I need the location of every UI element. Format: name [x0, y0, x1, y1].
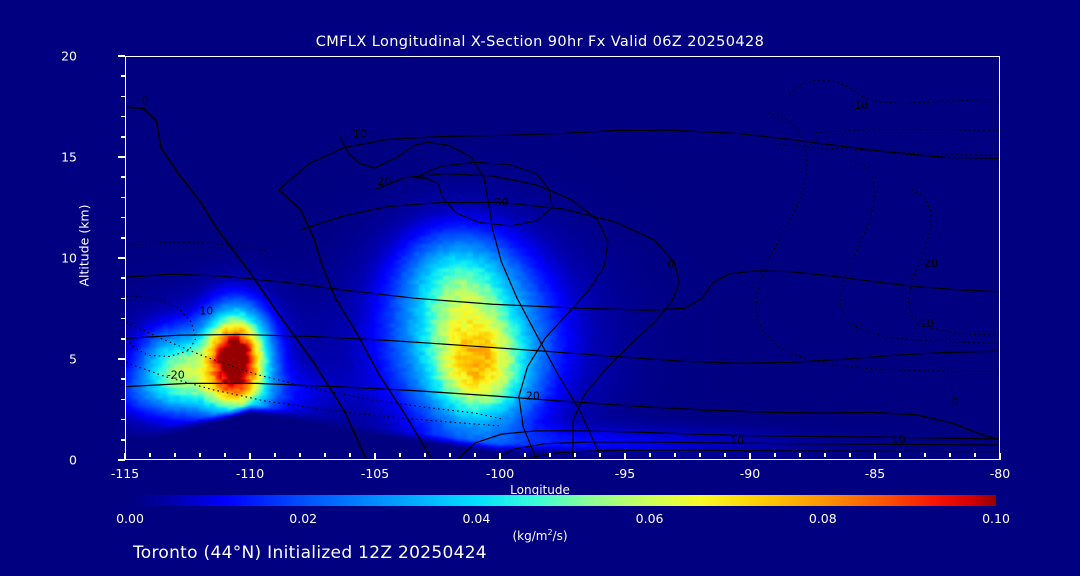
- y-tick-mark: [118, 358, 125, 360]
- colorbar-unit-label: (kg/m2/s): [0, 528, 1080, 543]
- contour-label: 0: [142, 94, 149, 107]
- x-minor-tick: [974, 453, 976, 457]
- colorbar-gradient: [130, 495, 996, 506]
- colorbar-unit-prefix: (kg/m: [512, 529, 547, 543]
- colorbar-tick-label: 0.10: [982, 511, 1010, 526]
- x-minor-tick: [799, 453, 801, 457]
- x-tick-mark: [374, 453, 376, 460]
- contour-label: -10: [850, 99, 868, 112]
- contour-label: 10: [892, 433, 906, 446]
- contour-line-negative: [756, 113, 999, 371]
- y-minor-tick: [121, 217, 125, 219]
- x-tick-mark: [499, 453, 501, 460]
- x-minor-tick: [549, 453, 551, 457]
- x-tick-mark: [249, 453, 251, 460]
- x-minor-tick: [324, 453, 326, 457]
- x-minor-tick: [349, 453, 351, 457]
- y-minor-tick: [121, 298, 125, 300]
- colorbar: [130, 495, 996, 506]
- x-minor-tick: [199, 453, 201, 457]
- x-tick-mark: [874, 453, 876, 460]
- x-minor-tick: [424, 453, 426, 457]
- x-tick-label: -115: [111, 466, 139, 481]
- contour-label: -10: [916, 317, 934, 330]
- x-minor-tick: [599, 453, 601, 457]
- x-tick-mark: [624, 453, 626, 460]
- y-tick-label: 0: [69, 453, 77, 468]
- x-tick-label: -110: [236, 466, 264, 481]
- x-tick-label: -100: [486, 466, 514, 481]
- colorbar-tick-label: 0.00: [116, 511, 144, 526]
- x-tick-mark: [124, 453, 126, 460]
- x-minor-tick: [824, 453, 826, 457]
- contour-label: 30: [494, 196, 508, 209]
- y-minor-tick: [121, 338, 125, 340]
- x-minor-tick: [274, 453, 276, 457]
- x-minor-tick: [699, 453, 701, 457]
- contour-line-positive: [523, 450, 999, 459]
- x-tick-label: -85: [865, 466, 885, 481]
- y-minor-tick: [121, 439, 125, 441]
- contour-line-negative: [789, 80, 999, 103]
- contour-label: -20: [920, 257, 938, 270]
- y-tick-label: 20: [61, 49, 77, 64]
- contour-line-negative: [840, 159, 999, 343]
- contour-label: 0: [952, 396, 959, 409]
- x-minor-tick: [449, 453, 451, 457]
- chart-title: CMFLX Longitudinal X-Section 90hr Fx Val…: [0, 34, 1080, 50]
- contour-label: -20: [167, 369, 185, 382]
- x-tick-label: -105: [361, 466, 389, 481]
- x-minor-tick: [474, 453, 476, 457]
- colorbar-tick-label: 0.08: [809, 511, 837, 526]
- colorbar-tick-label: 0.02: [289, 511, 317, 526]
- y-minor-tick: [121, 176, 125, 178]
- y-minor-tick: [121, 419, 125, 421]
- y-tick-mark: [118, 55, 125, 57]
- x-minor-tick: [574, 453, 576, 457]
- x-tick-label: -90: [740, 466, 760, 481]
- colorbar-tick-label: 0.04: [462, 511, 490, 526]
- x-minor-tick: [674, 453, 676, 457]
- contour-line-positive: [126, 271, 999, 310]
- x-tick-label: -80: [990, 466, 1010, 481]
- y-minor-tick: [121, 75, 125, 77]
- y-minor-tick: [121, 237, 125, 239]
- x-minor-tick: [399, 453, 401, 457]
- x-minor-tick: [924, 453, 926, 457]
- contour-label: 20: [377, 175, 391, 188]
- y-minor-tick: [121, 277, 125, 279]
- colorbar-unit-suffix: /s): [553, 529, 568, 543]
- x-minor-tick: [774, 453, 776, 457]
- x-minor-tick: [949, 453, 951, 457]
- y-axis-label: Altitude (km): [77, 156, 92, 336]
- contour-overlay: 01010-202030200-10-20-1001010: [126, 57, 999, 459]
- x-minor-tick: [224, 453, 226, 457]
- contour-label: 10: [199, 305, 213, 318]
- contour-line-positive: [126, 334, 999, 363]
- contour-line-negative: [126, 243, 266, 251]
- y-minor-tick: [121, 116, 125, 118]
- y-minor-tick: [121, 318, 125, 320]
- contour-line-positive: [301, 202, 680, 459]
- x-tick-mark: [999, 453, 1001, 460]
- contour-label: 20: [526, 390, 540, 403]
- y-tick-label: 5: [69, 352, 77, 367]
- y-minor-tick: [121, 399, 125, 401]
- x-minor-tick: [649, 453, 651, 457]
- contour-label: 10: [730, 434, 744, 447]
- y-tick-mark: [118, 257, 125, 259]
- contour-label: 10: [353, 127, 367, 140]
- y-tick-label: 10: [61, 251, 77, 266]
- x-minor-tick: [724, 453, 726, 457]
- x-minor-tick: [849, 453, 851, 457]
- x-minor-tick: [174, 453, 176, 457]
- x-tick-label: -95: [615, 466, 635, 481]
- chart-page: CMFLX Longitudinal X-Section 90hr Fx Val…: [0, 0, 1080, 576]
- contour-line-negative: [126, 296, 196, 356]
- x-minor-tick: [899, 453, 901, 457]
- y-minor-tick: [121, 136, 125, 138]
- contour-line-negative: [779, 145, 999, 155]
- y-minor-tick: [121, 96, 125, 98]
- x-tick-mark: [749, 453, 751, 460]
- chart-caption: Toronto (44°N) Initialized 12Z 20250424: [133, 543, 487, 563]
- y-minor-tick: [121, 197, 125, 199]
- plot-area: 01010-202030200-10-20-1001010: [125, 56, 1000, 460]
- y-minor-tick: [121, 378, 125, 380]
- contour-line-positive: [414, 162, 552, 226]
- contour-line-negative: [816, 129, 999, 132]
- y-tick-label: 15: [61, 150, 77, 165]
- x-minor-tick: [299, 453, 301, 457]
- colorbar-tick-label: 0.06: [636, 511, 664, 526]
- x-minor-tick: [149, 453, 151, 457]
- contour-label: 0: [667, 258, 674, 271]
- y-tick-mark: [118, 156, 125, 158]
- x-minor-tick: [524, 453, 526, 457]
